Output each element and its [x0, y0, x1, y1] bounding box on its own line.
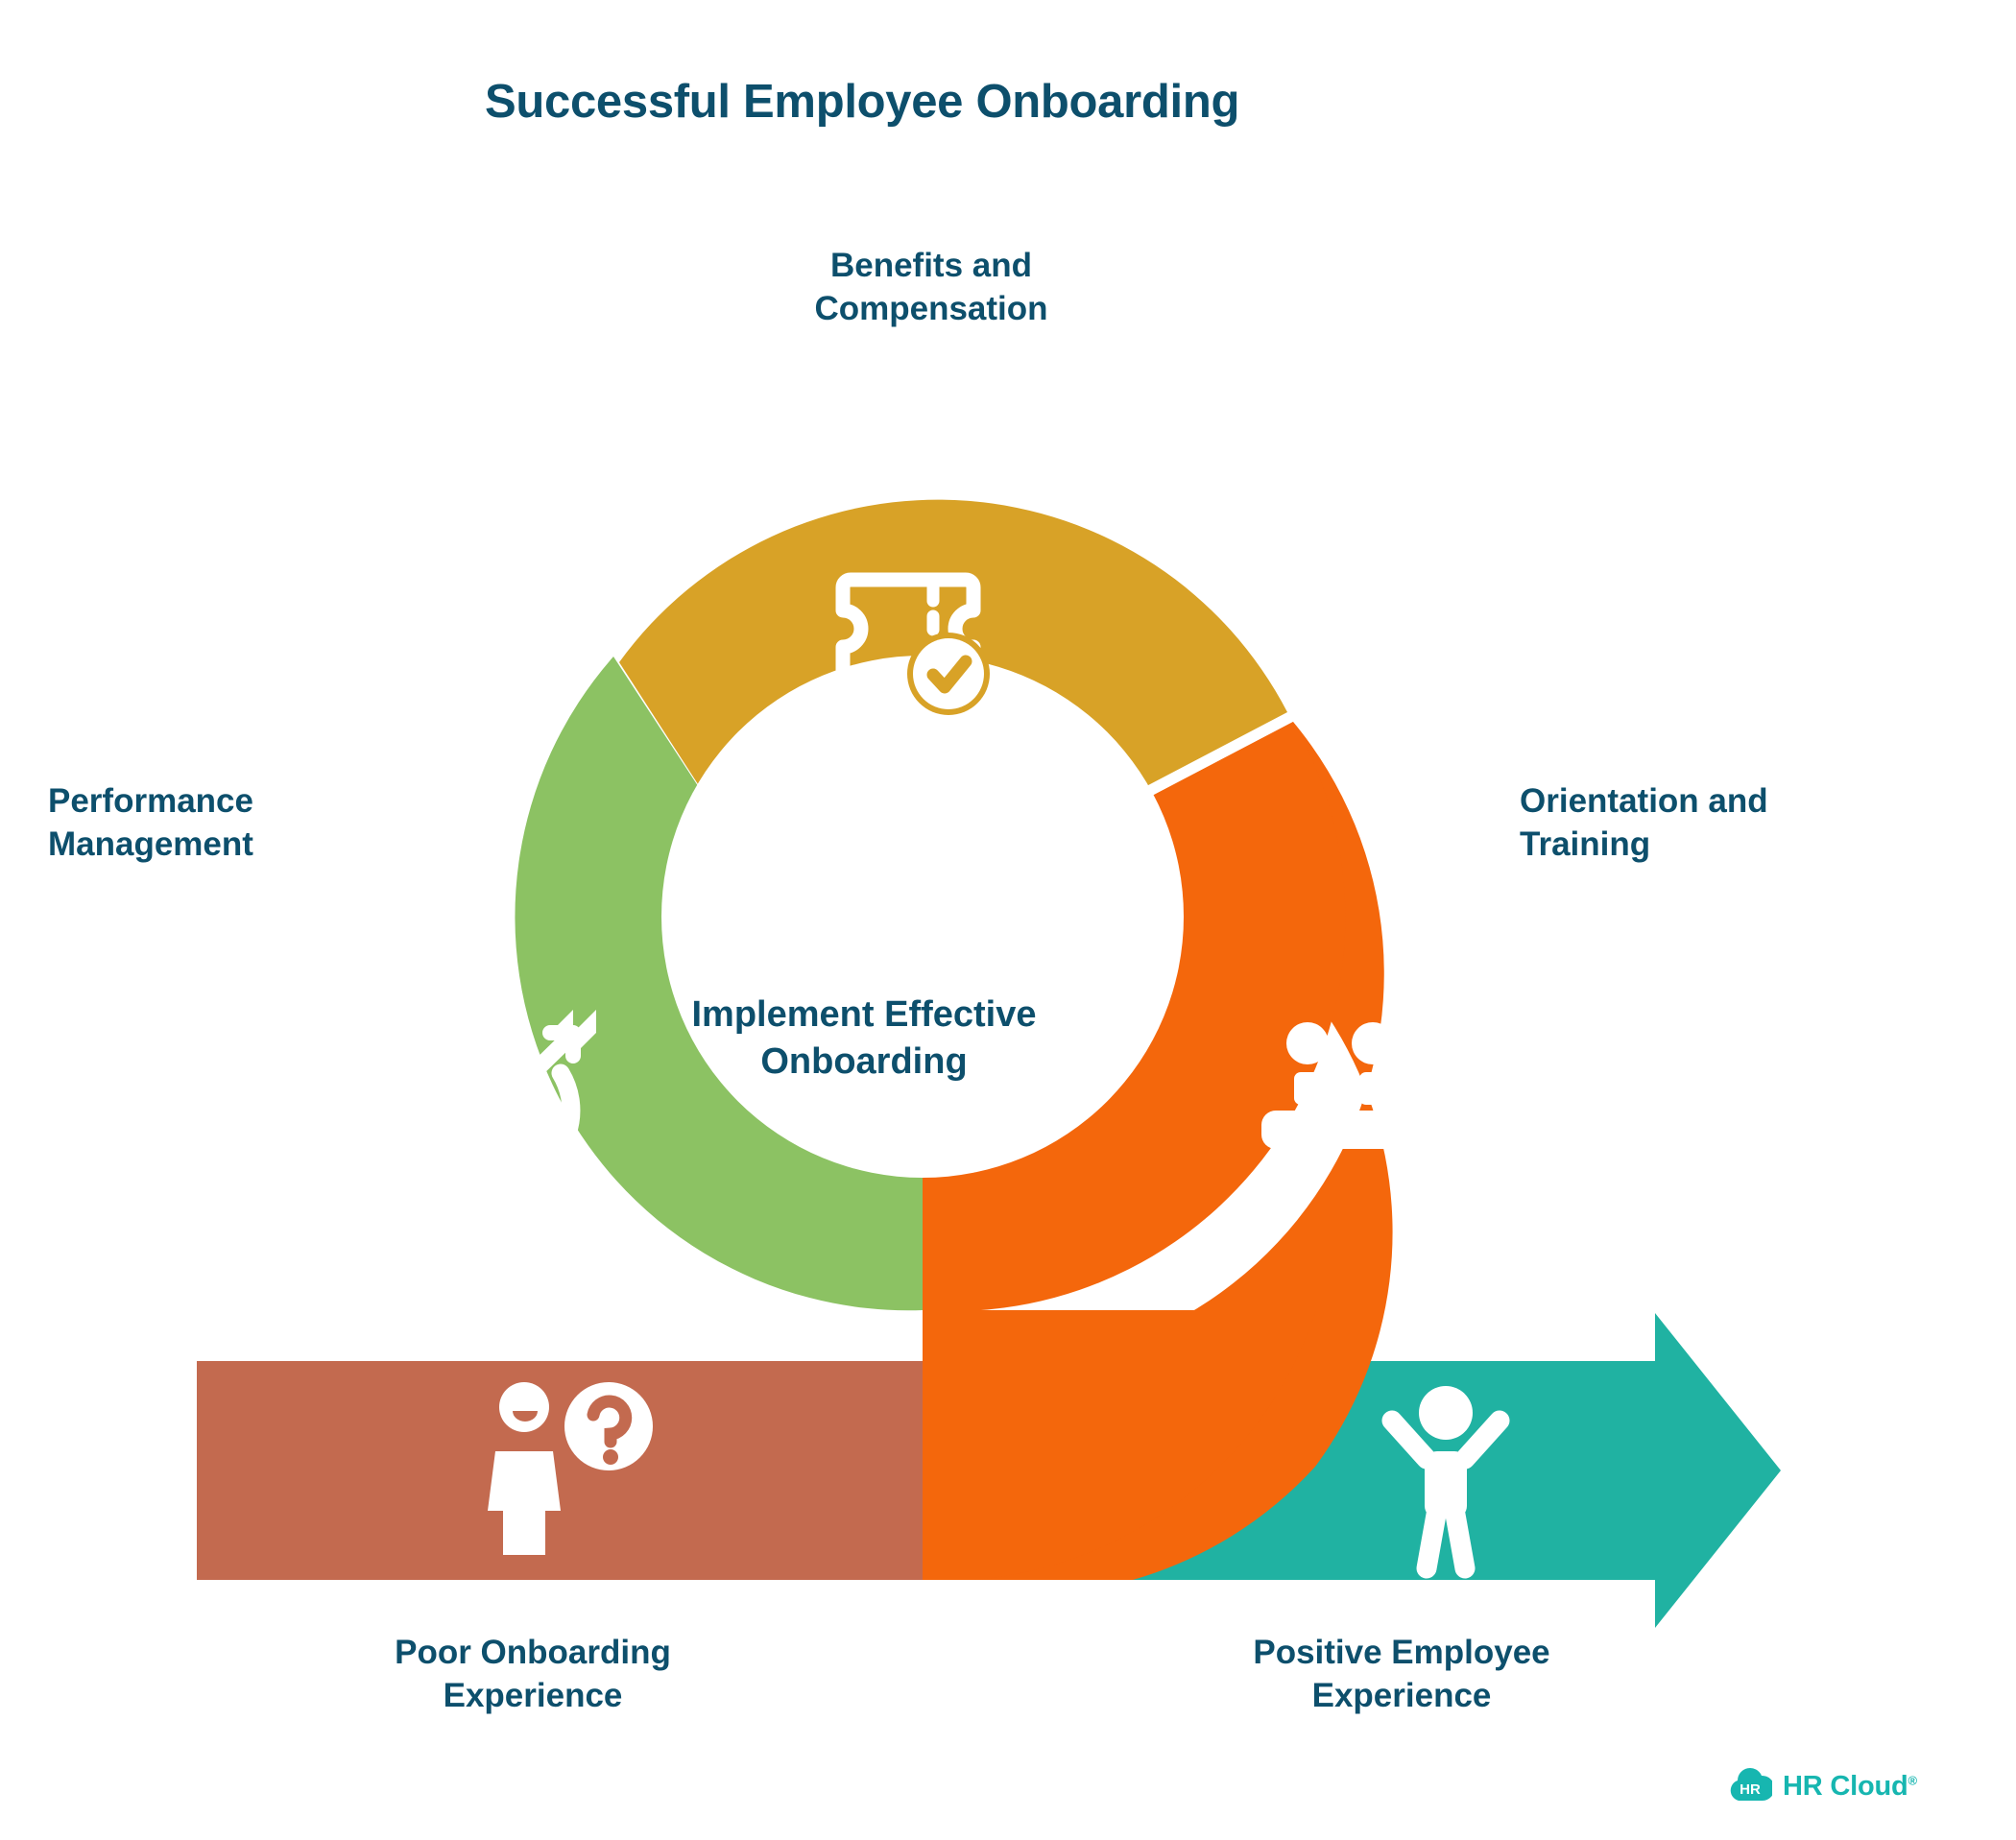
- infographic-canvas: Successful Employee Onboarding: [0, 0, 2016, 1840]
- donut-center-hole: [661, 656, 1184, 1178]
- ring-label-orientation: Orientation and Training: [1520, 780, 1904, 867]
- arrow-label-poor: Poor Onboarding Experience: [322, 1632, 744, 1718]
- hr-cloud-logo: HR HR Cloud®: [1728, 1764, 1917, 1808]
- hr-cloud-trademark: ®: [1908, 1773, 1917, 1787]
- hr-cloud-name: HR Cloud: [1783, 1771, 1908, 1802]
- hr-cloud-mark-text: HR: [1740, 1781, 1761, 1798]
- center-label: Implement Effective Onboarding: [672, 992, 1056, 1085]
- poor-experience-band-overlay: [197, 1361, 923, 1580]
- hr-cloud-mark-icon: HR: [1728, 1764, 1772, 1808]
- ring-label-performance: Performance Management: [48, 780, 336, 867]
- target-arrow-icon: [427, 1010, 596, 1183]
- hr-cloud-wordmark: HR Cloud®: [1783, 1771, 1917, 1803]
- ring-label-benefits: Benefits and Compensation: [778, 245, 1085, 331]
- arrow-label-positive: Positive Employee Experience: [1181, 1632, 1622, 1718]
